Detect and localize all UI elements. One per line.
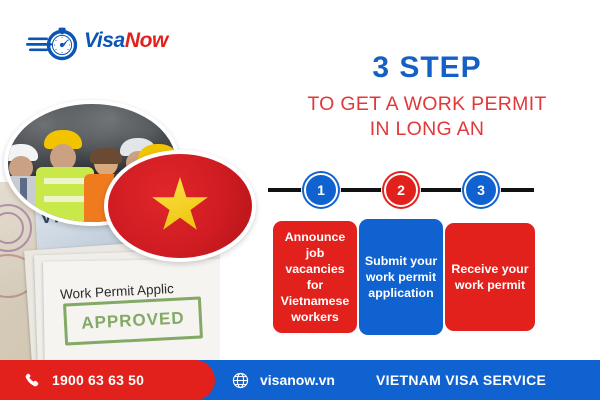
step-box-3[interactable]: Receive your work permit [445,223,535,331]
footer-phone-block[interactable]: 1900 63 63 50 [0,360,215,400]
step-box-2[interactable]: Submit your work permit application [359,219,443,335]
step-node-2-number: 2 [384,173,418,207]
infographic-canvas: VisaNow VISA Work Permit Applic APPROVED [0,0,600,400]
logo-visa-text: Visa [84,29,125,52]
footer-bar: 1900 63 63 50 visanow.vn VIETNAM VISA SE… [0,360,600,400]
page-subtitle-line2: IN LONG AN [262,117,592,141]
step-box-1[interactable]: Announce job vacancies for Vietnamese wo… [273,221,357,333]
phone-icon [24,372,40,388]
footer-website-block[interactable]: visanow.vn [232,360,335,400]
visanow-logo[interactable]: VisaNow [26,22,186,66]
logo-now-text: Now [125,29,168,52]
vietnam-flag-oval [104,150,256,262]
step-track: 1 2 3 [268,170,534,210]
footer-website-url: visanow.vn [260,372,335,388]
footer-phone-number: 1900 63 63 50 [52,372,144,388]
approved-stamp-text: APPROVED [81,308,185,333]
footer-tagline: VIETNAM VISA SERVICE [376,360,546,400]
headline-block: 3 STEP TO GET A WORK PERMIT IN LONG AN [262,52,592,141]
step-boxes: Announce job vacancies for Vietnamese wo… [273,219,535,335]
page-subtitle-line1: TO GET A WORK PERMIT [262,92,592,116]
hero-imagery: VISA Work Permit Applic APPROVED [0,86,252,362]
step-node-1[interactable]: 1 [301,170,341,210]
step-node-3[interactable]: 3 [461,170,501,210]
stopwatch-speed-icon [26,24,88,64]
flag-star-icon [151,177,209,235]
step-node-2[interactable]: 2 [381,170,421,210]
globe-icon [232,372,249,389]
logo-wordmark: VisaNow [84,29,168,53]
step-node-3-number: 3 [464,173,498,207]
approved-stamp: APPROVED [63,296,203,345]
page-title: 3 STEP [262,52,592,84]
step-node-1-number: 1 [304,173,338,207]
